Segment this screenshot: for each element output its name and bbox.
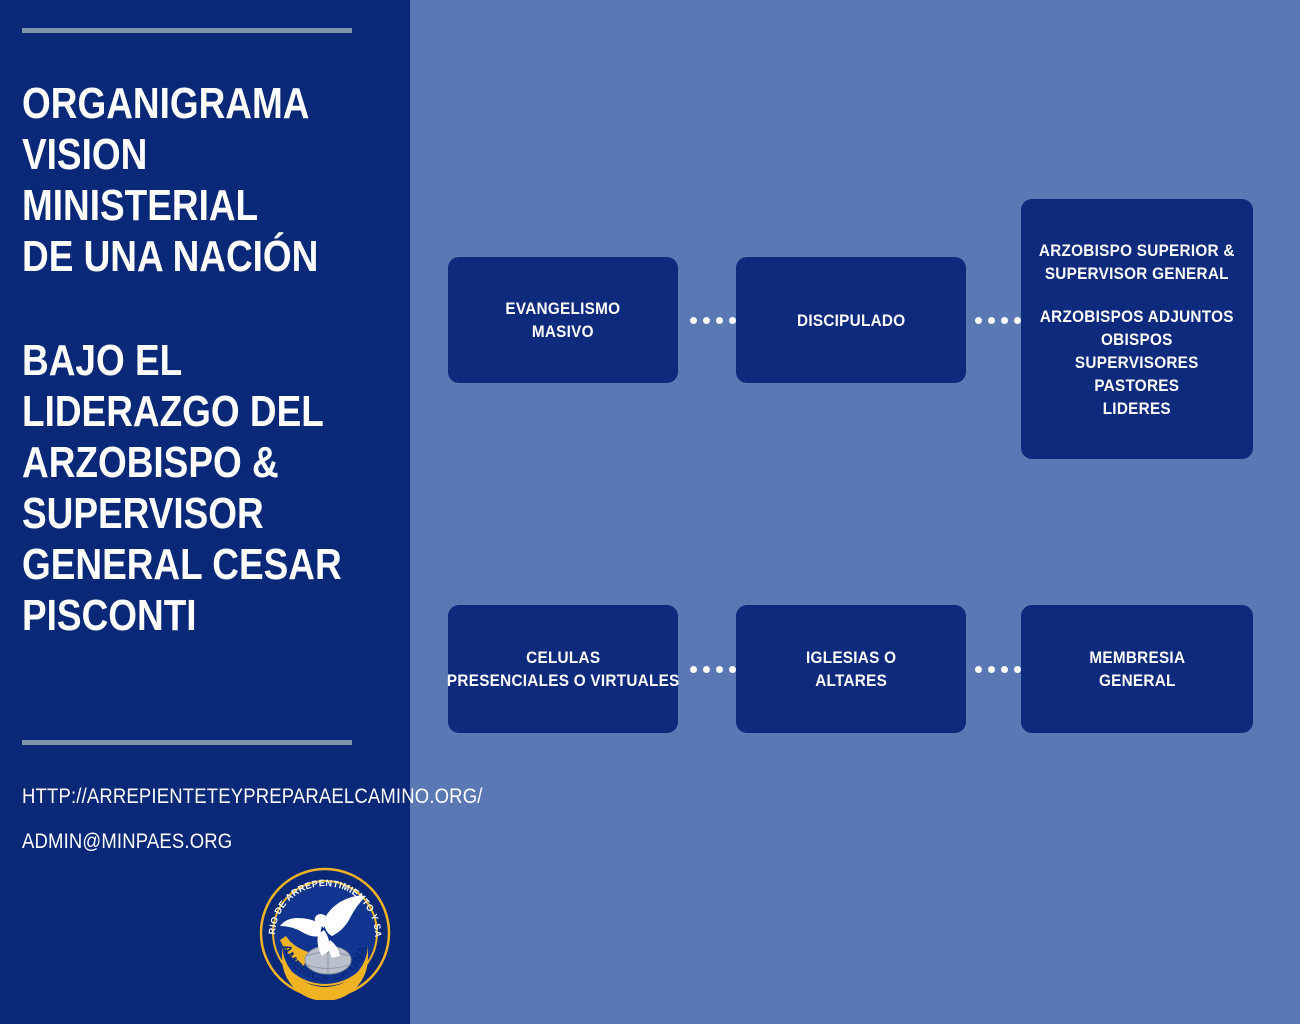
flow-node-label: MEMBRESIA GENERAL bbox=[1089, 646, 1185, 692]
connector-dot bbox=[988, 666, 995, 673]
node-line: PRESENCIALES O VIRTUALES bbox=[447, 669, 680, 692]
subtitle-line: BAJO EL bbox=[22, 335, 400, 386]
page-subtitle: BAJO EL LIDERAZGO DEL ARZOBISPO & SUPERV… bbox=[22, 335, 400, 641]
node-line: SUPERVISORES bbox=[1039, 351, 1235, 374]
subtitle-line: SUPERVISOR bbox=[22, 488, 400, 539]
connector-dot bbox=[690, 317, 697, 324]
connector-dot bbox=[703, 666, 710, 673]
email-link[interactable]: ADMIN@MINPAES.ORG bbox=[22, 830, 232, 854]
connector-dot bbox=[988, 317, 995, 324]
title-line: VISION bbox=[22, 129, 400, 180]
connector-dot bbox=[1001, 666, 1008, 673]
title-line: DE UNA NACIÓN bbox=[22, 231, 400, 282]
sidebar-panel: ORGANIGRAMA VISION MINISTERIAL DE UNA NA… bbox=[0, 0, 410, 1024]
connector-dot bbox=[975, 666, 982, 673]
flow-node-celulas[interactable]: CELULAS PRESENCIALES O VIRTUALES bbox=[448, 605, 678, 733]
subtitle-line: PISCONTI bbox=[22, 590, 400, 641]
node-line: GENERAL bbox=[1089, 669, 1185, 692]
flow-node-discipulado[interactable]: DISCIPULADO bbox=[736, 257, 966, 383]
connector-dot bbox=[729, 317, 736, 324]
flow-node-iglesias[interactable]: IGLESIAS O ALTARES bbox=[736, 605, 966, 733]
organigrama-slide: ORGANIGRAMA VISION MINISTERIAL DE UNA NA… bbox=[0, 0, 1300, 1024]
flow-node-label: EVANGELISMO MASIVO bbox=[506, 297, 621, 343]
flow-node-liderazgo[interactable]: ARZOBISPO SUPERIOR & SUPERVISOR GENERAL … bbox=[1021, 199, 1253, 459]
node-gap bbox=[1039, 285, 1235, 305]
node-line: EVANGELISMO bbox=[506, 297, 621, 320]
subtitle-line: ARZOBISPO & bbox=[22, 437, 400, 488]
flow-node-label: DISCIPULADO bbox=[797, 309, 905, 332]
title-line: ORGANIGRAMA bbox=[22, 78, 400, 129]
connector-dot bbox=[690, 666, 697, 673]
node-line: ARZOBISPO SUPERIOR & bbox=[1039, 239, 1235, 262]
title-line: MINISTERIAL bbox=[22, 180, 400, 231]
connector-dot bbox=[703, 317, 710, 324]
connector-dot bbox=[716, 317, 723, 324]
connector-dot bbox=[729, 666, 736, 673]
connector-dot bbox=[716, 666, 723, 673]
node-line: MASIVO bbox=[506, 320, 621, 343]
connector-dot bbox=[1014, 317, 1021, 324]
node-line: SUPERVISOR GENERAL bbox=[1039, 262, 1235, 285]
flow-node-evangelismo[interactable]: EVANGELISMO MASIVO bbox=[448, 257, 678, 383]
connector-dot bbox=[975, 317, 982, 324]
flow-node-label: IGLESIAS O ALTARES bbox=[806, 646, 896, 692]
node-line: PASTORES bbox=[1039, 374, 1235, 397]
node-line: LIDERES bbox=[1039, 397, 1235, 420]
ministry-logo-icon: MINISTERIO DE ARREPENTIMIENTO Y SANTIDAD… bbox=[258, 866, 392, 1000]
node-line: IGLESIAS O bbox=[806, 646, 896, 669]
node-line: MEMBRESIA bbox=[1089, 646, 1185, 669]
divider-bottom bbox=[22, 740, 352, 745]
node-line: ALTARES bbox=[806, 669, 896, 692]
node-line: CELULAS bbox=[447, 646, 680, 669]
divider-top bbox=[22, 28, 352, 33]
node-line: OBISPOS bbox=[1039, 328, 1235, 351]
flow-node-membresia[interactable]: MEMBRESIA GENERAL bbox=[1021, 605, 1253, 733]
connector-dot bbox=[1014, 666, 1021, 673]
website-link[interactable]: HTTP://ARREPIENTETEYPREPARAELCAMINO.ORG/ bbox=[22, 785, 483, 809]
subtitle-line: LIDERAZGO DEL bbox=[22, 386, 400, 437]
node-line: ARZOBISPOS ADJUNTOS bbox=[1039, 305, 1235, 328]
flow-node-label: ARZOBISPO SUPERIOR & SUPERVISOR GENERAL … bbox=[1039, 239, 1235, 420]
subtitle-line: GENERAL CESAR bbox=[22, 539, 400, 590]
connector-dot bbox=[1001, 317, 1008, 324]
page-title: ORGANIGRAMA VISION MINISTERIAL DE UNA NA… bbox=[22, 78, 400, 282]
node-line: DISCIPULADO bbox=[797, 309, 905, 332]
flow-node-label: CELULAS PRESENCIALES O VIRTUALES bbox=[447, 646, 680, 692]
